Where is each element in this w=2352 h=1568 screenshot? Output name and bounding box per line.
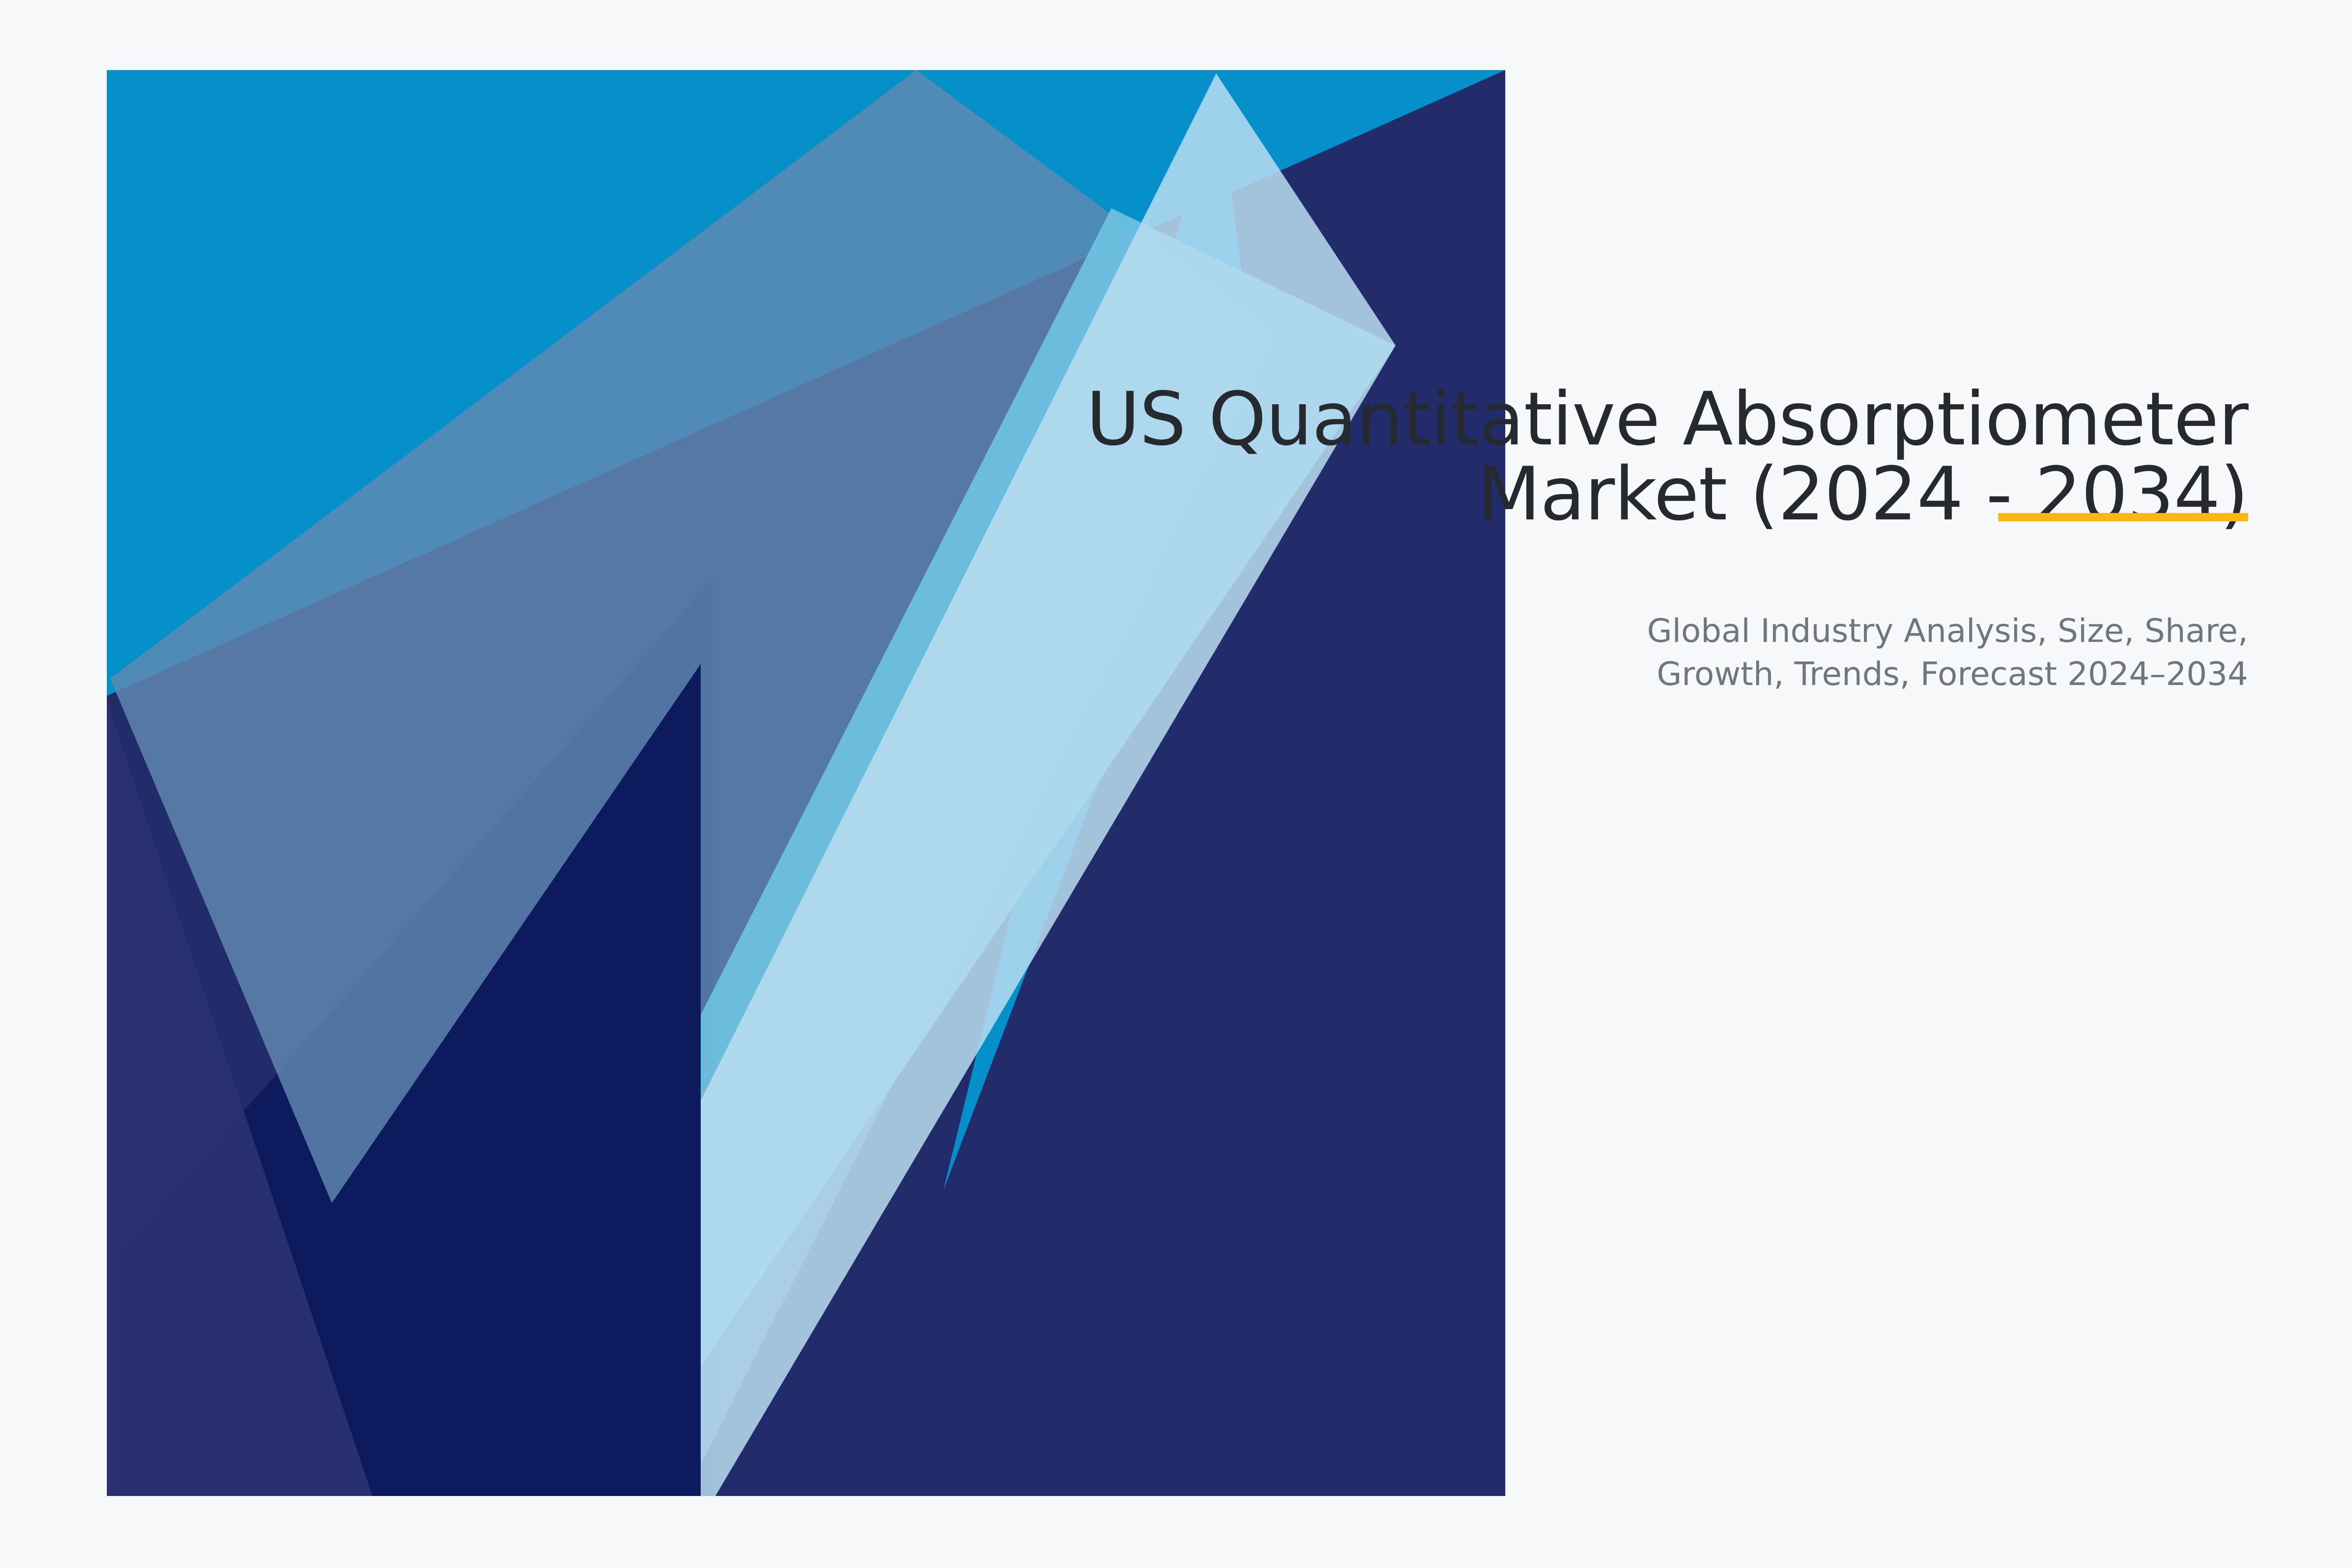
- cover-text-block: US Quantitative Absorptiometer Market (2…: [994, 382, 2248, 696]
- page-title-line-1: US Quantitative Absorptiometer: [994, 382, 2248, 457]
- page-subtitle-line-1: Global Industry Analysis, Size, Share,: [994, 610, 2248, 653]
- report-cover-page: US Quantitative Absorptiometer Market (2…: [0, 0, 2352, 1568]
- title-underline-accent: [1998, 513, 2248, 521]
- page-subtitle-line-2: Growth, Trends, Forecast 2024–2034: [994, 653, 2248, 696]
- cover-artwork: [0, 0, 2352, 1568]
- page-title: US Quantitative Absorptiometer Market (2…: [994, 382, 2248, 532]
- artwork-svg: [0, 0, 2352, 1568]
- page-subtitle: Global Industry Analysis, Size, Share, G…: [994, 610, 2248, 696]
